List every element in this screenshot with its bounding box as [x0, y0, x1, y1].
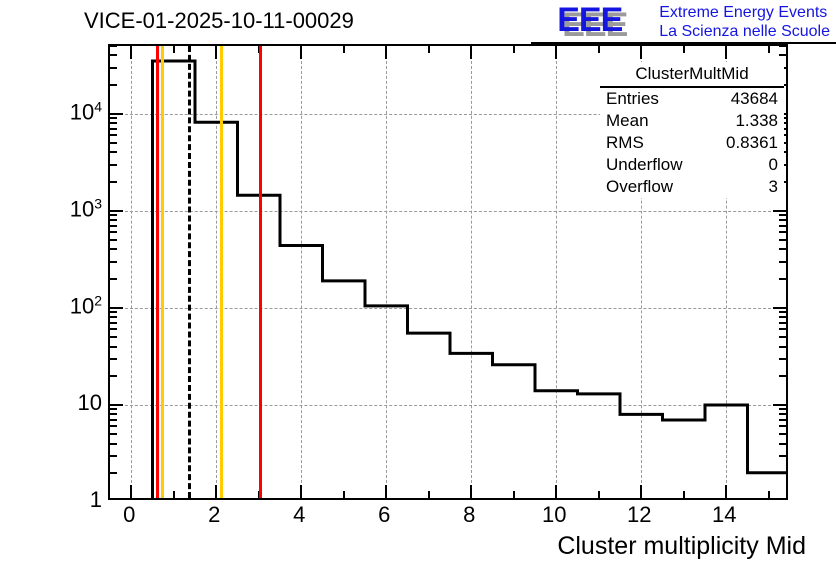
x-axis-tick-label: 6	[378, 502, 390, 528]
marker-red-low	[156, 46, 159, 498]
eee-logo-mark: EEE EEE	[557, 2, 653, 40]
plot-root: VICE-01-2025-10-11-00029 EEE EEE Extreme…	[0, 0, 836, 572]
stats-row: Overflow3	[600, 176, 784, 198]
x-axis-tick-label: 10	[542, 502, 566, 528]
marker-red-high	[259, 46, 262, 498]
stats-row-value: 1.338	[735, 111, 778, 131]
stats-row-value: 3	[769, 177, 778, 197]
y-axis-tick-label: 104	[70, 98, 102, 125]
stats-row-key: RMS	[606, 133, 644, 153]
stats-row-key: Mean	[606, 111, 649, 131]
stats-row-value: 0	[769, 155, 778, 175]
marker-mean-dashed	[188, 46, 191, 498]
eee-logo: EEE EEE Extreme Energy Events La Scienza…	[557, 2, 830, 42]
stats-row: Mean1.338	[600, 110, 784, 132]
eee-logo-mark-main: EEE	[557, 2, 653, 40]
eee-logo-text: Extreme Energy Events La Scienza nelle S…	[659, 2, 830, 41]
stats-title: ClusterMultMid	[600, 62, 784, 88]
x-axis-tick-label: 12	[627, 502, 651, 528]
eee-logo-line2: La Scienza nelle Scuole	[659, 22, 830, 41]
page-title: VICE-01-2025-10-11-00029	[84, 8, 354, 34]
x-axis-tick-label: 2	[208, 502, 220, 528]
y-axis-tick-label: 102	[70, 292, 102, 319]
y-axis-tick-label: 1	[90, 487, 102, 513]
stats-box: ClusterMultMid Entries43684Mean1.338RMS0…	[600, 62, 784, 198]
y-axis-labels: 110102103104	[0, 44, 104, 500]
y-axis-tick-label: 103	[70, 195, 102, 222]
x-axis-tick-label: 0	[123, 502, 135, 528]
x-axis-tick-label: 8	[463, 502, 475, 528]
eee-logo-line1: Extreme Energy Events	[659, 3, 830, 22]
stats-row-key: Entries	[606, 89, 659, 109]
x-axis-labels: 02468101214	[108, 502, 788, 534]
stats-row: Entries43684	[600, 88, 784, 110]
stats-row-value: 0.8361	[726, 133, 778, 153]
x-axis-tick-label: 4	[293, 502, 305, 528]
stats-row-value: 43684	[731, 89, 778, 109]
stats-row-key: Overflow	[606, 177, 673, 197]
marker-orange-high	[220, 46, 223, 498]
stats-rows: Entries43684Mean1.338RMS0.8361Underflow0…	[600, 88, 784, 198]
stats-row-key: Underflow	[606, 155, 683, 175]
stats-row: Underflow0	[600, 154, 784, 176]
x-axis-title: Cluster multiplicity Mid	[557, 532, 806, 561]
x-axis-tick-label: 14	[712, 502, 736, 528]
stats-row: RMS0.8361	[600, 132, 784, 154]
marker-orange-low	[161, 46, 164, 498]
y-axis-tick-label: 10	[78, 390, 102, 416]
